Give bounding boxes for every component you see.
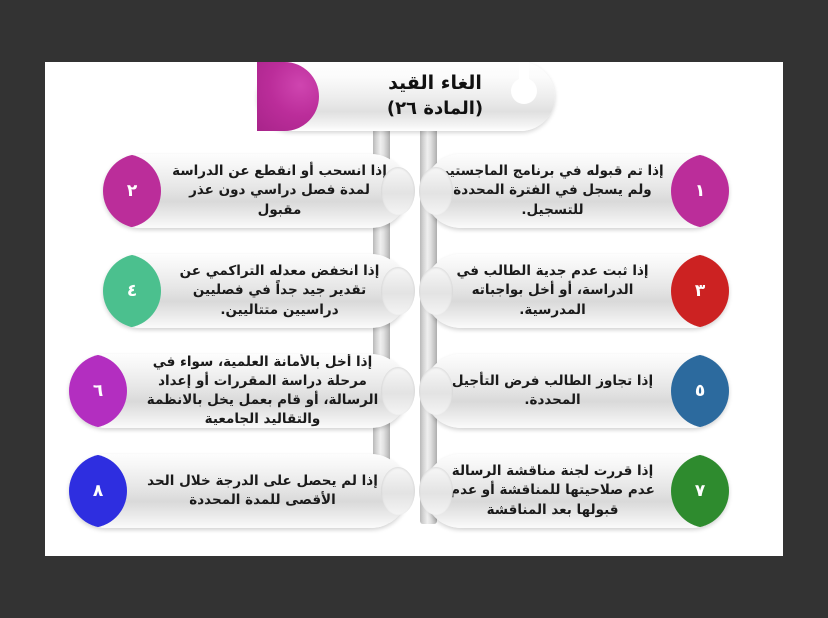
- item-3-number-cap: ٣: [671, 254, 729, 328]
- item-8-number-cap: ٨: [69, 454, 127, 528]
- list-item: ٤ إذا انخفض معدله التراكمي عن تقدير جيد …: [103, 254, 408, 328]
- item-7-pill: ٧ إذا قررت لجنة مناقشة الرسالة عدم صلاحي…: [424, 454, 729, 528]
- infographic-canvas: الغاء القيد (المادة ٢٦) ١ إذا تم قبوله ف…: [45, 62, 783, 556]
- item-3-number: ٣: [695, 281, 705, 301]
- list-item: ٢ إذا انسحب أو انقطع عن الدراسة لمدة فصل…: [103, 154, 408, 228]
- item-2-number: ٢: [127, 181, 137, 201]
- title-line-1: الغاء القيد: [388, 73, 482, 95]
- item-8-pill: ٨ إذا لم يحصل على الدرجة خلال الحد الأقص…: [69, 454, 408, 528]
- item-3-label: إذا ثبت عدم جدية الطالب في الدراسة، أو أ…: [438, 254, 667, 328]
- list-item: ٣ إذا ثبت عدم جدية الطالب في الدراسة، أو…: [424, 254, 729, 328]
- list-item: ٧ إذا قررت لجنة مناقشة الرسالة عدم صلاحي…: [424, 454, 729, 528]
- item-7-number-cap: ٧: [671, 454, 729, 528]
- item-4-label: إذا انخفض معدله التراكمي عن تقدير جيد جد…: [165, 254, 394, 328]
- item-4-number-cap: ٤: [103, 254, 161, 328]
- title-notch-icon: [511, 78, 537, 104]
- item-5-number: ٥: [695, 381, 705, 401]
- item-4-number: ٤: [127, 281, 137, 301]
- item-2-label: إذا انسحب أو انقطع عن الدراسة لمدة فصل د…: [165, 154, 394, 228]
- list-item: ٥ إذا تجاوز الطالب فرض التأجيل المحددة.: [424, 354, 729, 428]
- item-3-pill: ٣ إذا ثبت عدم جدية الطالب في الدراسة، أو…: [424, 254, 729, 328]
- list-item: ٨ إذا لم يحصل على الدرجة خلال الحد الأقص…: [69, 454, 408, 528]
- list-item: ٦ إذا أخل بالأمانة العلمية، سواء في مرحل…: [69, 354, 408, 428]
- diagram-title: الغاء القيد (المادة ٢٦): [257, 62, 555, 131]
- item-2-number-cap: ٢: [103, 154, 161, 228]
- item-5-pill: ٥ إذا تجاوز الطالب فرض التأجيل المحددة.: [424, 354, 729, 428]
- item-6-number: ٦: [93, 381, 103, 401]
- item-7-number: ٧: [695, 481, 705, 501]
- item-1-label: إذا تم قبوله في برنامج الماجستير ولم يسج…: [438, 154, 667, 228]
- item-1-pill: ١ إذا تم قبوله في برنامج الماجستير ولم ي…: [424, 154, 729, 228]
- item-1-number: ١: [695, 181, 705, 201]
- item-5-label: إذا تجاوز الطالب فرض التأجيل المحددة.: [438, 354, 667, 428]
- item-6-number-cap: ٦: [69, 354, 127, 428]
- title-line-2: (المادة ٢٦): [387, 99, 483, 120]
- list-item: ١ إذا تم قبوله في برنامج الماجستير ولم ي…: [424, 154, 729, 228]
- item-8-number: ٨: [93, 481, 103, 501]
- item-7-label: إذا قررت لجنة مناقشة الرسالة عدم صلاحيته…: [438, 454, 667, 528]
- item-5-number-cap: ٥: [671, 354, 729, 428]
- item-2-pill: ٢ إذا انسحب أو انقطع عن الدراسة لمدة فصل…: [103, 154, 408, 228]
- item-4-pill: ٤ إذا انخفض معدله التراكمي عن تقدير جيد …: [103, 254, 408, 328]
- item-6-pill: ٦ إذا أخل بالأمانة العلمية، سواء في مرحل…: [69, 354, 408, 428]
- item-6-label: إذا أخل بالأمانة العلمية، سواء في مرحلة …: [131, 354, 394, 428]
- item-1-number-cap: ١: [671, 154, 729, 228]
- item-8-label: إذا لم يحصل على الدرجة خلال الحد الأقصى …: [131, 454, 394, 528]
